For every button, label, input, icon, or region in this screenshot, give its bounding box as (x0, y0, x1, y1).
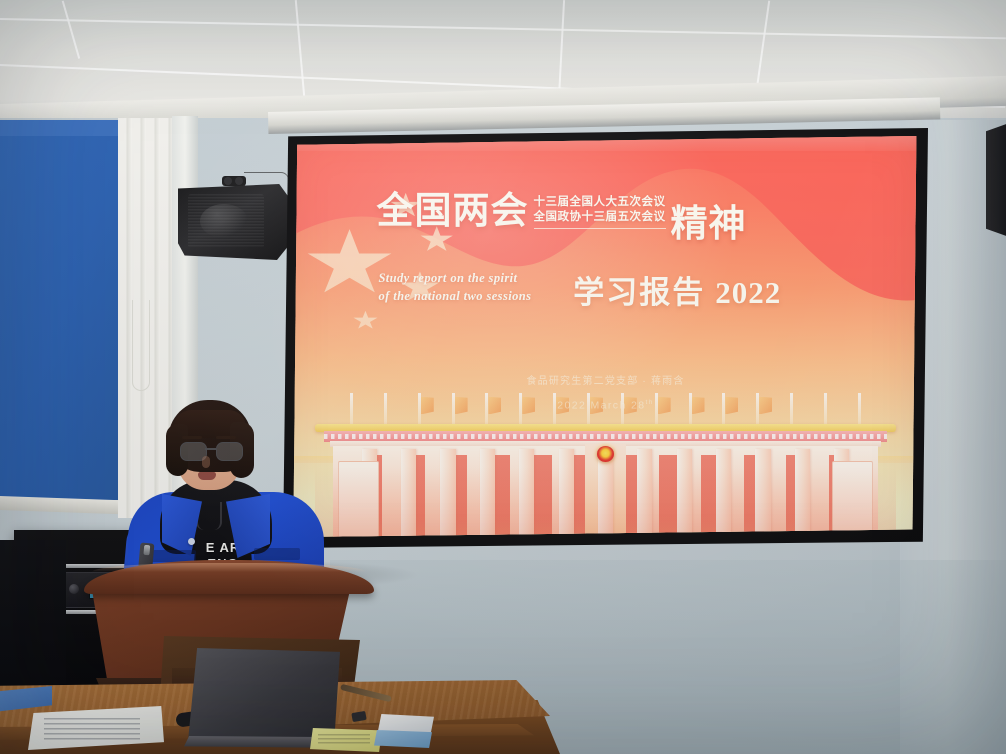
slide-date-ordinal: th (646, 399, 654, 406)
lectern-top-highlight (92, 563, 366, 572)
speaker-icon (178, 184, 288, 260)
ceiling-tile-seam (0, 18, 1006, 39)
window-blind (0, 120, 128, 500)
glasses-icon (180, 442, 242, 459)
slide-background: 全国两会 十三届全国人大五次会议 全国政协十三届五次会议 精神 Study re… (283, 128, 928, 548)
jacket-pocket-right (254, 548, 300, 560)
slide-date: 2022 March 28th (283, 399, 928, 412)
slide-date-text: 2022 March 28 (557, 399, 645, 411)
pointer-tip (143, 545, 150, 555)
mouth (198, 472, 216, 480)
glasses-lens-right (216, 442, 243, 461)
slide-session-line-1: 十三届全国人大五次会议 (534, 195, 666, 210)
lectern-top (84, 560, 374, 594)
slide-title-row: 全国两会 十三届全国人大五次会议 全国政协十三届五次会议 精神 (377, 193, 747, 247)
slide-byline: 食品研究生第二党支部 · 蒋雨含 (283, 372, 928, 387)
projected-slide-surface: 全国两会 十三届全国人大五次会议 全国政协十三届五次会议 精神 Study re… (283, 128, 928, 548)
slide-subtitle-english: Study report on the spirit of the nation… (378, 269, 531, 307)
projection-screen: 全国两会 十三届全国人大五次会议 全国政协十三届五次会议 精神 Study re… (283, 128, 928, 548)
eyebrow-right (216, 436, 236, 439)
yellow-notepad[interactable] (310, 728, 382, 752)
ceiling-tile-seam (62, 1, 80, 59)
slide-title-spirit: 精神 (671, 193, 747, 247)
slide-title-middle: 十三届全国人大五次会议 全国政协十三届五次会议 (534, 195, 666, 229)
slide-session-line-2: 全国政协十三届五次会议 (534, 210, 666, 225)
jacket-button (188, 538, 195, 545)
curtain-cord[interactable] (132, 300, 150, 391)
blue-phone-case[interactable] (374, 730, 432, 748)
slide-subtitle-line-2: of the national two sessions (378, 287, 531, 306)
window-blind-headrail (0, 120, 128, 136)
speaker-cone (200, 204, 248, 238)
slide-text-layer: 全国两会 十三届全国人大五次会议 全国政协十三届五次会议 精神 Study re… (283, 128, 928, 548)
slide-title-rule (534, 228, 666, 229)
slide-subtitle-line-1: Study report on the spirit (378, 269, 531, 288)
slide-title-main: 全国两会 (377, 193, 529, 232)
notepad-lines (318, 734, 370, 744)
slide-report-year: 2022 (715, 275, 781, 311)
volume-knob[interactable] (69, 584, 79, 594)
nose (202, 456, 210, 468)
conference-room-screenshot: 全国两会 十三届全国人大五次会议 全国政协十三届五次会议 精神 Study re… (0, 0, 1006, 754)
eyebrow-left (182, 436, 202, 439)
glasses-bridge (205, 448, 216, 450)
speaker-icon (986, 122, 1006, 238)
document-text-lines (44, 718, 140, 740)
slide-report-label: 学习报告 (573, 267, 705, 312)
slide-report-row: 学习报告 2022 (573, 267, 781, 312)
speaker-bracket (222, 176, 246, 186)
